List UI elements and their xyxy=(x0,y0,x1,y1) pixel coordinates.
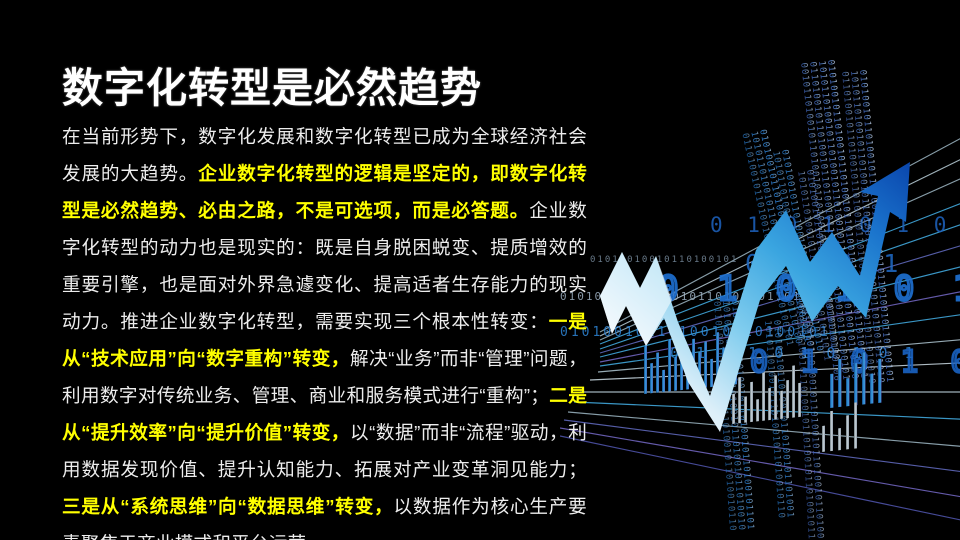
svg-text:01011010010110100101: 01011010010110100101 xyxy=(590,255,738,265)
digital-growth-arrow-graphic: 0101001011010010110100101101 01011010010… xyxy=(560,0,960,540)
highlighted-text-run: 三是从“系统思维”向“数据思维”转变， xyxy=(62,496,394,517)
slide-root: 0101001011010010110100101101 01011010010… xyxy=(0,0,960,540)
page-title: 数字化转型是必然趋势 xyxy=(62,63,482,113)
body-paragraph: 在当前形势下，数字化发展和数字化转型已成为全球经济社会发展的大趋势。企业数字化转… xyxy=(62,118,587,540)
